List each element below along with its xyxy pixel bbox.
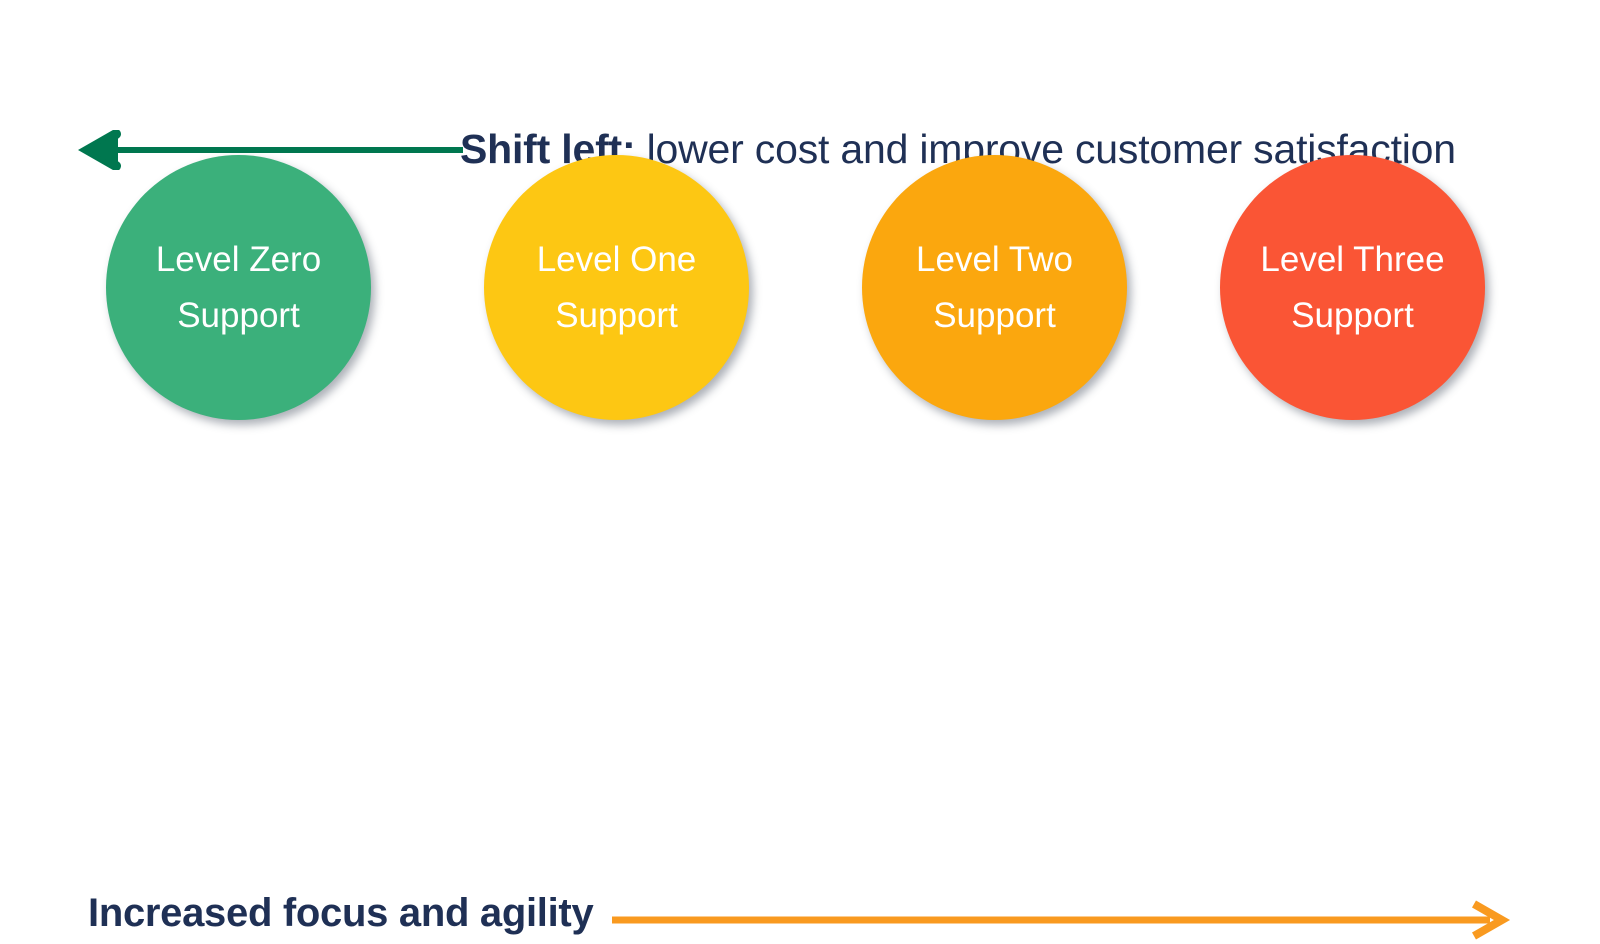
diagram-canvas: Shift left: lower cost and improve custo… — [0, 0, 1600, 585]
support-level-label-line1: Level Three — [1260, 232, 1444, 288]
support-level-label-line2: Support — [933, 288, 1056, 344]
support-level-label-line2: Support — [555, 288, 678, 344]
support-level-circle-level-one[interactable]: Level One Support — [484, 155, 749, 420]
support-level-label-line1: Level Two — [916, 232, 1073, 288]
support-level-circle-level-three[interactable]: Level Three Support — [1220, 155, 1485, 420]
increased-focus-row: Increased focus and agility — [0, 440, 1600, 510]
support-level-label-line2: Support — [1291, 288, 1414, 344]
support-level-circle-level-zero[interactable]: Level Zero Support — [106, 155, 371, 420]
increased-focus-caption: Increased focus and agility — [88, 882, 593, 944]
shift-left-row: Shift left: lower cost and improve custo… — [0, 58, 1600, 128]
support-level-label-line2: Support — [177, 288, 300, 344]
support-level-label-line1: Level One — [537, 232, 697, 288]
increased-focus-arrow-icon — [612, 898, 1512, 943]
support-level-label-line1: Level Zero — [156, 232, 321, 288]
support-level-circle-level-two[interactable]: Level Two Support — [862, 155, 1127, 420]
support-levels-row: Level Zero Support Level One Support Lev… — [0, 155, 1600, 420]
